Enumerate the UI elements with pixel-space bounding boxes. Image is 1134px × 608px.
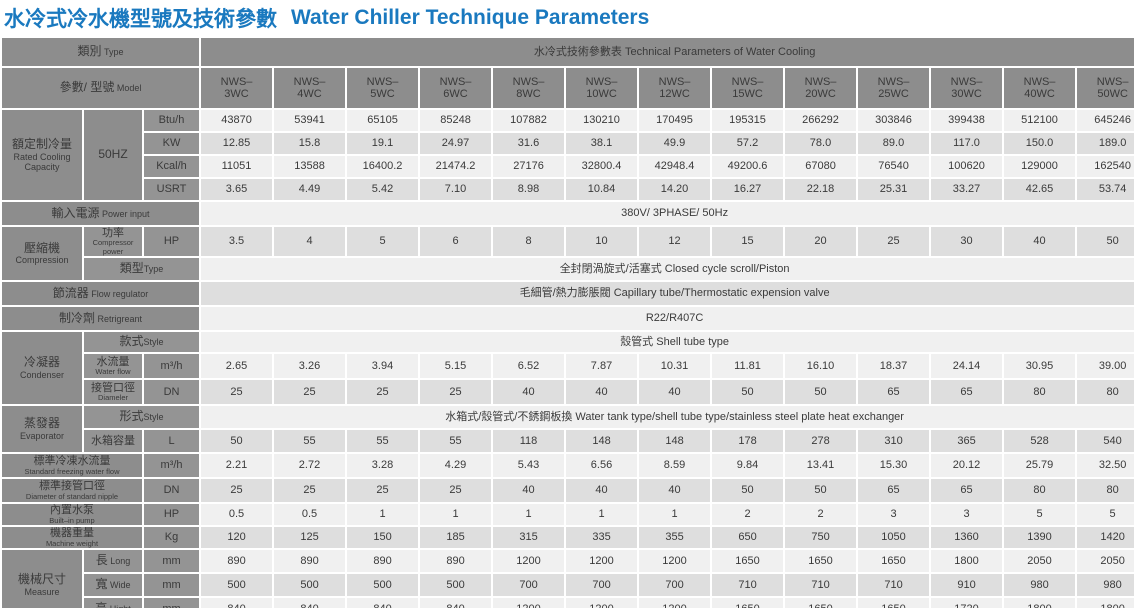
cell: 25 <box>420 479 491 502</box>
cell: 22.18 <box>785 179 856 200</box>
cell: 162540 <box>1077 156 1134 177</box>
model-label: 參數/ 型號 Model <box>2 68 199 108</box>
table-row-machine-weight: 機器重量 Machine weight Kg 120 125 150 185 3… <box>2 527 1134 548</box>
cell: 7.87 <box>566 354 637 378</box>
unit-btuh: Btu/h <box>144 110 199 131</box>
cell: 1 <box>420 504 491 525</box>
table-row-compressor-type: 類型Type 全封閉渦旋式/活塞式 Closed cycle scroll/Pi… <box>2 258 1134 280</box>
cell: 40 <box>566 479 637 502</box>
table-row-evaporator-style: 蒸發器 Evaporator 形式Style 水箱式/殼管式/不銹鋼板換 Wat… <box>2 406 1134 428</box>
cell: 189.0 <box>1077 133 1134 154</box>
refrigerant-label: 制冷劑 Retrigreant <box>2 307 199 330</box>
cell: 980 <box>1077 574 1134 596</box>
model-col-11: NWS–40WC <box>1004 68 1075 108</box>
std-freezing-flow-label: 標準冷凍水流量 Standard freezing water flow <box>2 454 142 477</box>
cell: 5 <box>1004 504 1075 525</box>
cell: 178 <box>712 430 783 452</box>
table-row-kcalh: Kcal/h 11051 13588 16400.2 21474.2 27176… <box>2 156 1134 177</box>
cell: 1650 <box>785 598 856 608</box>
cell: 0.5 <box>274 504 345 525</box>
page-title-en: Water Chiller Technique Parameters <box>291 6 649 30</box>
cell: 16.10 <box>785 354 856 378</box>
cell: 13588 <box>274 156 345 177</box>
cell: 39.00 <box>1077 354 1134 378</box>
cell: 170495 <box>639 110 710 131</box>
table-row-power-input: 輸入電源 Power input 380V/ 3PHASE/ 50Hz <box>2 202 1134 225</box>
cell: 14.20 <box>639 179 710 200</box>
cell: 1650 <box>712 550 783 572</box>
unit-measure-wide: mm <box>144 574 199 596</box>
cell: 500 <box>201 574 272 596</box>
cell: 31.6 <box>493 133 564 154</box>
cell: 1 <box>566 504 637 525</box>
cell: 16.27 <box>712 179 783 200</box>
cell: 15 <box>712 227 783 256</box>
cell: 100620 <box>931 156 1002 177</box>
cell: 24.97 <box>420 133 491 154</box>
cell: 148 <box>566 430 637 452</box>
cell: 25 <box>347 380 418 404</box>
cell: 80 <box>1077 380 1134 404</box>
std-nipple-label: 標準接管口徑 Diameter of standard nipple <box>2 479 142 502</box>
cell: 9.84 <box>712 454 783 477</box>
model-col-6: NWS–12WC <box>639 68 710 108</box>
cell: 50 <box>785 380 856 404</box>
cell: 107882 <box>493 110 564 131</box>
page-title: 水冷式冷水機型號及技術參數 Water Chiller Technique Pa… <box>0 0 1134 36</box>
compression-label: 壓縮機 Compression <box>2 227 82 280</box>
cell: 12 <box>639 227 710 256</box>
model-col-4: NWS–8WC <box>493 68 564 108</box>
model-col-7: NWS–15WC <box>712 68 783 108</box>
cell: 42.65 <box>1004 179 1075 200</box>
cell: 55 <box>420 430 491 452</box>
cell: 50 <box>201 430 272 452</box>
cell: 118 <box>493 430 564 452</box>
cell: 1 <box>347 504 418 525</box>
cell: 40 <box>493 380 564 404</box>
cell: 3.94 <box>347 354 418 378</box>
cell: 15.30 <box>858 454 929 477</box>
cell: 78.0 <box>785 133 856 154</box>
cell: 2 <box>785 504 856 525</box>
cell: 50 <box>1077 227 1134 256</box>
cell: 80 <box>1077 479 1134 502</box>
cell: 195315 <box>712 110 783 131</box>
cell: 25 <box>347 479 418 502</box>
cell: 2.65 <box>201 354 272 378</box>
cell: 7.10 <box>420 179 491 200</box>
cell: 1200 <box>493 550 564 572</box>
page-title-zh: 水冷式冷水機型號及技術參數 <box>4 3 277 33</box>
cell: 4.49 <box>274 179 345 200</box>
cell: 0.5 <box>201 504 272 525</box>
cell: 980 <box>1004 574 1075 596</box>
power-input-value: 380V/ 3PHASE/ 50Hz <box>201 202 1134 225</box>
cell: 1800 <box>931 550 1002 572</box>
table-row-kw: KW 12.85 15.8 19.1 24.97 31.6 38.1 49.9 … <box>2 133 1134 154</box>
cell: 399438 <box>931 110 1002 131</box>
power-input-label: 輸入電源 Power input <box>2 202 199 225</box>
cell: 890 <box>420 550 491 572</box>
cell: 1200 <box>493 598 564 608</box>
cell: 117.0 <box>931 133 1002 154</box>
type-label: 類別 Type <box>2 38 199 66</box>
cell: 700 <box>639 574 710 596</box>
unit-condenser-waterflow: m³/h <box>144 354 199 378</box>
cell: 1200 <box>639 598 710 608</box>
cell: 500 <box>347 574 418 596</box>
table-row-type: 類別 Type 水冷式技術參數表 Technical Parameters of… <box>2 38 1134 66</box>
cell: 645246 <box>1077 110 1134 131</box>
cell: 8.59 <box>639 454 710 477</box>
table-row-std-freezing-flow: 標準冷凍水流量 Standard freezing water flow m³/… <box>2 454 1134 477</box>
cell: 80 <box>1004 380 1075 404</box>
cell: 355 <box>639 527 710 548</box>
cell: 40 <box>493 479 564 502</box>
cell: 1720 <box>931 598 1002 608</box>
unit-measure-long: mm <box>144 550 199 572</box>
cell: 4 <box>274 227 345 256</box>
cell: 76540 <box>858 156 929 177</box>
cell: 30.95 <box>1004 354 1075 378</box>
cell: 25 <box>201 380 272 404</box>
cell: 65 <box>858 380 929 404</box>
cell: 1050 <box>858 527 929 548</box>
table-row-condenser-waterflow: 水流量 Water flow m³/h 2.65 3.26 3.94 5.15 … <box>2 354 1134 378</box>
measure-long-label: 長 Long <box>84 550 142 572</box>
cell: 53.74 <box>1077 179 1134 200</box>
cell: 2 <box>712 504 783 525</box>
unit-kcalh: Kcal/h <box>144 156 199 177</box>
cell: 25.79 <box>1004 454 1075 477</box>
cell: 710 <box>858 574 929 596</box>
cell: 27176 <box>493 156 564 177</box>
cell: 5 <box>347 227 418 256</box>
cell: 125 <box>274 527 345 548</box>
unit-std-freezing-flow: m³/h <box>144 454 199 477</box>
cell: 50 <box>712 479 783 502</box>
cell: 1200 <box>566 550 637 572</box>
cell: 10.31 <box>639 354 710 378</box>
cell: 130210 <box>566 110 637 131</box>
cell: 65 <box>931 380 1002 404</box>
cell: 12.85 <box>201 133 272 154</box>
table-row-refrigerant: 制冷劑 Retrigreant R22/R407C <box>2 307 1134 330</box>
cell: 3 <box>931 504 1002 525</box>
cell: 25 <box>420 380 491 404</box>
cell: 5 <box>1077 504 1134 525</box>
cell: 700 <box>493 574 564 596</box>
cell: 890 <box>347 550 418 572</box>
cell: 5.42 <box>347 179 418 200</box>
cell: 840 <box>274 598 345 608</box>
cell: 32800.4 <box>566 156 637 177</box>
cell: 185 <box>420 527 491 548</box>
table-row-models: 參數/ 型號 Model NWS–3WC NWS–4WC NWS–5WC NWS… <box>2 68 1134 108</box>
cell: 11051 <box>201 156 272 177</box>
cell: 150.0 <box>1004 133 1075 154</box>
cell: 840 <box>201 598 272 608</box>
unit-machine-weight: Kg <box>144 527 199 548</box>
model-col-8: NWS–20WC <box>785 68 856 108</box>
unit-condenser-dn: DN <box>144 380 199 404</box>
cell: 1200 <box>639 550 710 572</box>
condenser-waterflow-label: 水流量 Water flow <box>84 354 142 378</box>
model-col-5: NWS–10WC <box>566 68 637 108</box>
cell: 5.15 <box>420 354 491 378</box>
cell: 650 <box>712 527 783 548</box>
cell: 2.21 <box>201 454 272 477</box>
cell: 278 <box>785 430 856 452</box>
cell: 1650 <box>785 550 856 572</box>
table-row-compressor-power: 壓縮機 Compression 功率 Compressor power HP 3… <box>2 227 1134 256</box>
cell: 1650 <box>712 598 783 608</box>
cell: 16400.2 <box>347 156 418 177</box>
cell: 150 <box>347 527 418 548</box>
evaporator-style-value: 水箱式/殼管式/不銹鋼板換 Water tank type/shell tube… <box>201 406 1134 428</box>
model-col-0: NWS–3WC <box>201 68 272 108</box>
cell: 2050 <box>1004 550 1075 572</box>
cell: 57.2 <box>712 133 783 154</box>
cell: 25 <box>201 479 272 502</box>
cell: 1 <box>639 504 710 525</box>
cell: 65 <box>858 479 929 502</box>
cell: 13.41 <box>785 454 856 477</box>
cell: 50 <box>712 380 783 404</box>
compressor-power-label: 功率 Compressor power <box>84 227 142 256</box>
cell: 21474.2 <box>420 156 491 177</box>
cell: 3 <box>858 504 929 525</box>
cell: 120 <box>201 527 272 548</box>
cell: 20.12 <box>931 454 1002 477</box>
spec-table: 類別 Type 水冷式技術參數表 Technical Parameters of… <box>0 36 1134 608</box>
cell: 18.37 <box>858 354 929 378</box>
cell: 1360 <box>931 527 1002 548</box>
condenser-style-value: 殼管式 Shell tube type <box>201 332 1134 352</box>
machine-weight-label: 機器重量 Machine weight <box>2 527 142 548</box>
cell: 25 <box>274 479 345 502</box>
cell: 365 <box>931 430 1002 452</box>
cell: 1800 <box>1004 598 1075 608</box>
condenser-diameter-label: 接管口徑 Diameler <box>84 380 142 404</box>
cell: 129000 <box>1004 156 1075 177</box>
table-row-usrt: USRT 3.65 4.49 5.42 7.10 8.98 10.84 14.2… <box>2 179 1134 200</box>
type-value: 水冷式技術參數表 Technical Parameters of Water C… <box>201 38 1134 66</box>
compressor-type-label: 類型Type <box>84 258 199 280</box>
cell: 500 <box>420 574 491 596</box>
cell: 1420 <box>1077 527 1134 548</box>
evaporator-label: 蒸發器 Evaporator <box>2 406 82 452</box>
builtin-pump-label: 內置水泵 Built–in pump <box>2 504 142 525</box>
cell: 19.1 <box>347 133 418 154</box>
cell: 49.9 <box>639 133 710 154</box>
cell: 8 <box>493 227 564 256</box>
cell: 50 <box>785 479 856 502</box>
cell: 890 <box>274 550 345 572</box>
cell: 10 <box>566 227 637 256</box>
cell: 53941 <box>274 110 345 131</box>
unit-measure-high: mm <box>144 598 199 608</box>
cell: 85248 <box>420 110 491 131</box>
cell: 15.8 <box>274 133 345 154</box>
cell: 335 <box>566 527 637 548</box>
cell: 89.0 <box>858 133 929 154</box>
condenser-label: 冷凝器 Condenser <box>2 332 82 404</box>
cell: 38.1 <box>566 133 637 154</box>
evaporator-tank-label: 水箱容量 <box>84 430 142 452</box>
cell: 1200 <box>566 598 637 608</box>
cell: 65 <box>931 479 1002 502</box>
cell: 310 <box>858 430 929 452</box>
compressor-type-value: 全封閉渦旋式/活塞式 Closed cycle scroll/Piston <box>201 258 1134 280</box>
cell: 840 <box>347 598 418 608</box>
table-row-measure-high: 高 Hight mm 840 840 840 840 1200 1200 120… <box>2 598 1134 608</box>
unit-compressor-hp: HP <box>144 227 199 256</box>
cell: 25.31 <box>858 179 929 200</box>
cell: 303846 <box>858 110 929 131</box>
cell: 8.98 <box>493 179 564 200</box>
measure-label: 機械尺寸 Measure <box>2 550 82 608</box>
cell: 49200.6 <box>712 156 783 177</box>
cell: 1800 <box>1077 598 1134 608</box>
cell: 3.26 <box>274 354 345 378</box>
cell: 40 <box>639 479 710 502</box>
refrigerant-value: R22/R407C <box>201 307 1134 330</box>
cell: 6.52 <box>493 354 564 378</box>
flow-regulator-label: 節流器 Flow regulator <box>2 282 199 305</box>
model-col-12: NWS–50WC <box>1077 68 1134 108</box>
cell: 40 <box>639 380 710 404</box>
table-row-builtin-pump: 內置水泵 Built–in pump HP 0.5 0.5 1 1 1 1 1 … <box>2 504 1134 525</box>
model-col-9: NWS–25WC <box>858 68 929 108</box>
cell: 3.5 <box>201 227 272 256</box>
cell: 2050 <box>1077 550 1134 572</box>
model-col-10: NWS–30WC <box>931 68 1002 108</box>
unit-std-nipple: DN <box>144 479 199 502</box>
cell: 40 <box>566 380 637 404</box>
table-row-measure-wide: 寬 Wide mm 500 500 500 500 700 700 700 71… <box>2 574 1134 596</box>
unit-kw: KW <box>144 133 199 154</box>
cell: 4.29 <box>420 454 491 477</box>
table-row-condenser-diameter: 接管口徑 Diameler DN 25 25 25 25 40 40 40 50… <box>2 380 1134 404</box>
cell: 1390 <box>1004 527 1075 548</box>
table-row-condenser-style: 冷凝器 Condenser 款式Style 殼管式 Shell tube typ… <box>2 332 1134 352</box>
cell: 20 <box>785 227 856 256</box>
model-col-2: NWS–5WC <box>347 68 418 108</box>
cell: 266292 <box>785 110 856 131</box>
cell: 315 <box>493 527 564 548</box>
cell: 30 <box>931 227 1002 256</box>
measure-high-label: 高 Hight <box>84 598 142 608</box>
cell: 25 <box>274 380 345 404</box>
unit-evaporator-l: L <box>144 430 199 452</box>
cell: 11.81 <box>712 354 783 378</box>
cell: 750 <box>785 527 856 548</box>
unit-usrt: USRT <box>144 179 199 200</box>
cell: 40 <box>1004 227 1075 256</box>
table-row-flow-regulator: 節流器 Flow regulator 毛細管/熱力膨脹閥 Capillary t… <box>2 282 1134 305</box>
cell: 540 <box>1077 430 1134 452</box>
cell: 3.65 <box>201 179 272 200</box>
cell: 32.50 <box>1077 454 1134 477</box>
rated-cooling-freq: 50HZ <box>84 110 142 200</box>
cell: 43870 <box>201 110 272 131</box>
cell: 80 <box>1004 479 1075 502</box>
evaporator-style-label: 形式Style <box>84 406 199 428</box>
cell: 3.28 <box>347 454 418 477</box>
cell: 500 <box>274 574 345 596</box>
cell: 33.27 <box>931 179 1002 200</box>
cell: 840 <box>420 598 491 608</box>
cell: 6.56 <box>566 454 637 477</box>
unit-builtin-pump: HP <box>144 504 199 525</box>
cell: 6 <box>420 227 491 256</box>
cell: 67080 <box>785 156 856 177</box>
cell: 148 <box>639 430 710 452</box>
rated-cooling-label: 額定制冷量 Rated Cooling Capacity <box>2 110 82 200</box>
cell: 55 <box>274 430 345 452</box>
cell: 1 <box>493 504 564 525</box>
cell: 700 <box>566 574 637 596</box>
cell: 1650 <box>858 598 929 608</box>
condenser-style-label: 款式Style <box>84 332 199 352</box>
cell: 24.14 <box>931 354 1002 378</box>
cell: 2.72 <box>274 454 345 477</box>
model-col-1: NWS–4WC <box>274 68 345 108</box>
cell: 5.43 <box>493 454 564 477</box>
cell: 710 <box>785 574 856 596</box>
cell: 890 <box>201 550 272 572</box>
table-row-measure-long: 機械尺寸 Measure 長 Long mm 890 890 890 890 1… <box>2 550 1134 572</box>
cell: 65105 <box>347 110 418 131</box>
model-col-3: NWS–6WC <box>420 68 491 108</box>
table-row-evaporator-tank: 水箱容量 L 50 55 55 55 118 148 148 178 278 3… <box>2 430 1134 452</box>
cell: 710 <box>712 574 783 596</box>
cell: 42948.4 <box>639 156 710 177</box>
table-row-btuh: 額定制冷量 Rated Cooling Capacity 50HZ Btu/h … <box>2 110 1134 131</box>
cell: 55 <box>347 430 418 452</box>
cell: 512100 <box>1004 110 1075 131</box>
table-row-std-nipple: 標準接管口徑 Diameter of standard nipple DN 25… <box>2 479 1134 502</box>
cell: 10.84 <box>566 179 637 200</box>
measure-wide-label: 寬 Wide <box>84 574 142 596</box>
flow-regulator-value: 毛細管/熱力膨脹閥 Capillary tube/Thermostatic ex… <box>201 282 1134 305</box>
cell: 1650 <box>858 550 929 572</box>
cell: 25 <box>858 227 929 256</box>
cell: 910 <box>931 574 1002 596</box>
cell: 528 <box>1004 430 1075 452</box>
